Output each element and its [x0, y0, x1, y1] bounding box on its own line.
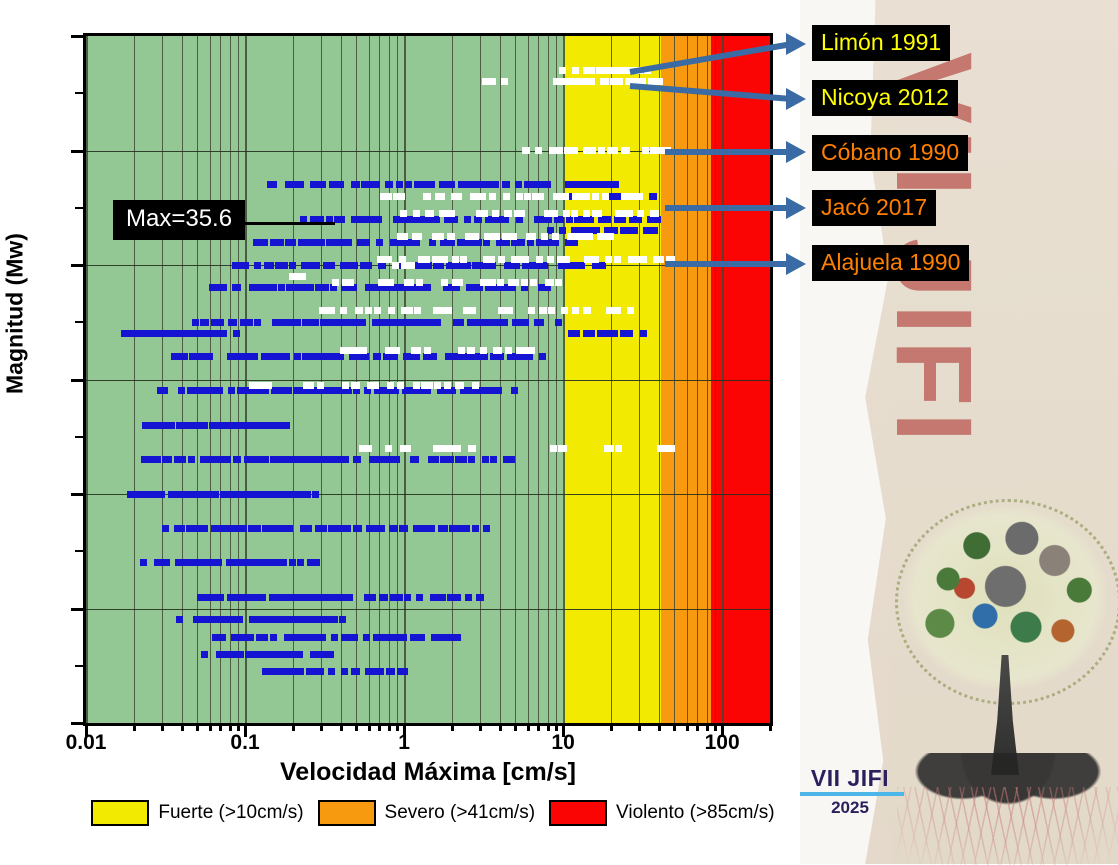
- callout-arrow-head: [786, 141, 806, 163]
- callout-arrow-line: [630, 86, 792, 99]
- max-annotation-leader-line: [240, 222, 335, 225]
- callout-arrows: [0, 0, 1118, 864]
- max-annotation-box: Max=35.6: [113, 200, 245, 240]
- callout-arrow-head: [786, 88, 806, 110]
- callout-arrow-head: [786, 197, 806, 219]
- callout-arrow-line: [630, 44, 792, 72]
- callout-arrow-head: [786, 33, 806, 55]
- callout-arrow-head: [786, 253, 806, 275]
- slide-root: VII JIFI VII JIFI 2025 Magnitud (Mw) Vel…: [0, 0, 1118, 864]
